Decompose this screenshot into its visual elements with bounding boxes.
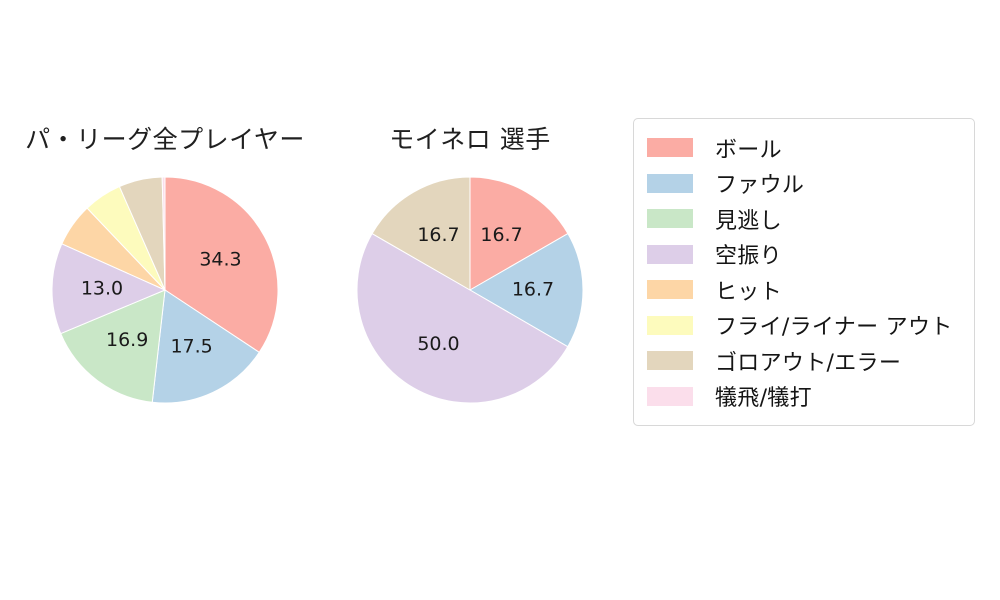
pie-player: 16.716.750.016.7 (335, 170, 605, 410)
legend-label: フライ/ライナー アウト (715, 309, 953, 341)
pie-slice-label: 16.7 (417, 224, 459, 246)
pie-slice-label: 16.9 (106, 329, 148, 351)
legend-swatch (647, 245, 693, 264)
pie-wrap-league-average: 34.317.516.913.0 (10, 170, 320, 410)
legend-label: ゴロアウト/エラー (715, 345, 901, 377)
pie-slice-label: 50.0 (417, 333, 459, 355)
chart-title-league-average: パ・リーグ全プレイヤー (10, 120, 320, 156)
chart-panel-league-average: パ・リーグ全プレイヤー 34.317.516.913.0 (10, 110, 320, 410)
pie-wrap-player: 16.716.750.016.7 (330, 170, 610, 410)
chart-panel-player: モイネロ 選手 16.716.750.016.7 (330, 110, 610, 410)
pie-slice-label: 17.5 (170, 336, 212, 358)
legend-swatch (647, 209, 693, 228)
legend-label: ヒット (715, 274, 782, 306)
pie-slice-label: 13.0 (81, 278, 123, 300)
pie-slice-label: 16.7 (512, 279, 554, 301)
legend-label: 空振り (715, 238, 782, 270)
pie-slice-label: 34.3 (199, 249, 241, 271)
legend-swatch (647, 280, 693, 299)
pie-slice-label: 16.7 (480, 224, 522, 246)
legend-item[interactable]: 空振り (647, 237, 962, 273)
legend-swatch (647, 138, 693, 157)
legend-item[interactable]: ファウル (647, 166, 962, 202)
legend-swatch (647, 174, 693, 193)
pie-league-average: 34.317.516.913.0 (15, 170, 315, 410)
legend-item[interactable]: ゴロアウト/エラー (647, 343, 962, 379)
legend: ボールファウル見逃し空振りヒットフライ/ライナー アウトゴロアウト/エラー犠飛/… (633, 118, 975, 426)
legend-item[interactable]: 見逃し (647, 201, 962, 237)
legend-item[interactable]: 犠飛/犠打 (647, 379, 962, 415)
legend-item[interactable]: ヒット (647, 272, 962, 308)
chart-title-player: モイネロ 選手 (330, 120, 610, 156)
legend-label: 見逃し (715, 203, 782, 235)
legend-item[interactable]: ボール (647, 130, 962, 166)
legend-swatch (647, 387, 693, 406)
legend-swatch (647, 351, 693, 370)
legend-label: ボール (715, 132, 782, 164)
pie-chart-figure: パ・リーグ全プレイヤー 34.317.516.913.0 モイネロ 選手 16.… (0, 0, 1000, 600)
legend-label: 犠飛/犠打 (715, 380, 812, 412)
legend-swatch (647, 316, 693, 335)
legend-label: ファウル (715, 167, 804, 199)
legend-item[interactable]: フライ/ライナー アウト (647, 308, 962, 344)
